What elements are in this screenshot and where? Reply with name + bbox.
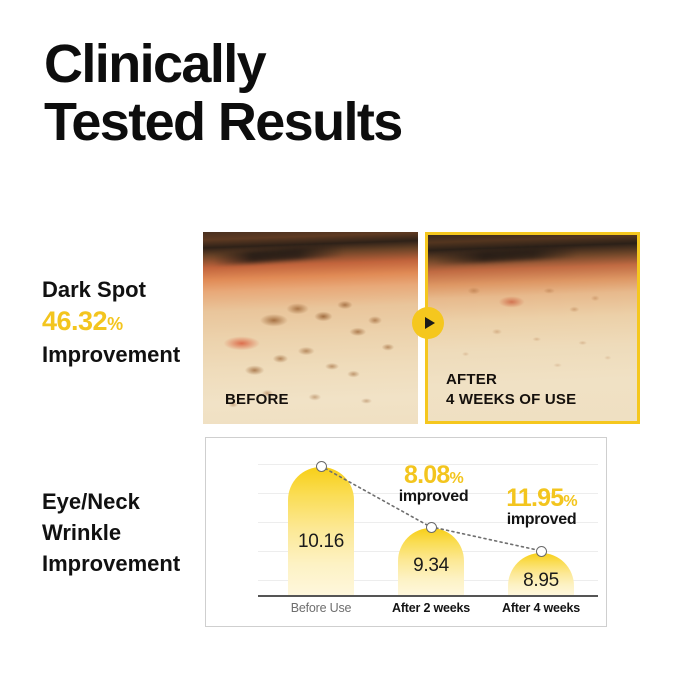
wrinkle-chart: 10.16 9.34 8.95 8.08% improved 11.95% im… [205,437,607,627]
dark-spot-percent-value: 46.32 [42,306,107,336]
page-title: Clinically Tested Results [44,36,402,152]
after-photo: AFTER 4 WEEKS OF USE [425,232,640,424]
data-point-after-2-weeks [426,522,437,533]
triangle-glyph [425,317,435,329]
wrinkle-summary: Eye/Neck Wrinkle Improvement [42,487,212,579]
before-photo: BEFORE [203,232,418,424]
dark-spot-subtitle: Improvement [42,340,207,369]
chart-plot-area: 10.16 9.34 8.95 8.08% improved 11.95% im… [206,438,606,626]
data-point-before-use [316,461,327,472]
wrinkle-title-line-3: Improvement [42,549,212,580]
dark-spot-percent: 46.32% [42,304,207,340]
wrinkle-title-line-1: Eye/Neck [42,487,212,518]
dark-spot-percent-symbol: % [107,314,123,334]
page-title-line-1: Clinically [44,36,402,94]
play-triangle-icon [412,307,444,339]
after-photo-caption: AFTER 4 WEEKS OF USE [446,370,576,410]
data-point-after-4-weeks [536,546,547,557]
page-title-line-2: Tested Results [44,94,402,152]
wrinkle-title-line-2: Wrinkle [42,518,212,549]
dark-spot-title: Dark Spot [42,275,207,304]
before-photo-caption: BEFORE [225,390,289,410]
dark-spot-summary: Dark Spot 46.32% Improvement [42,275,207,369]
trend-line [206,438,606,627]
